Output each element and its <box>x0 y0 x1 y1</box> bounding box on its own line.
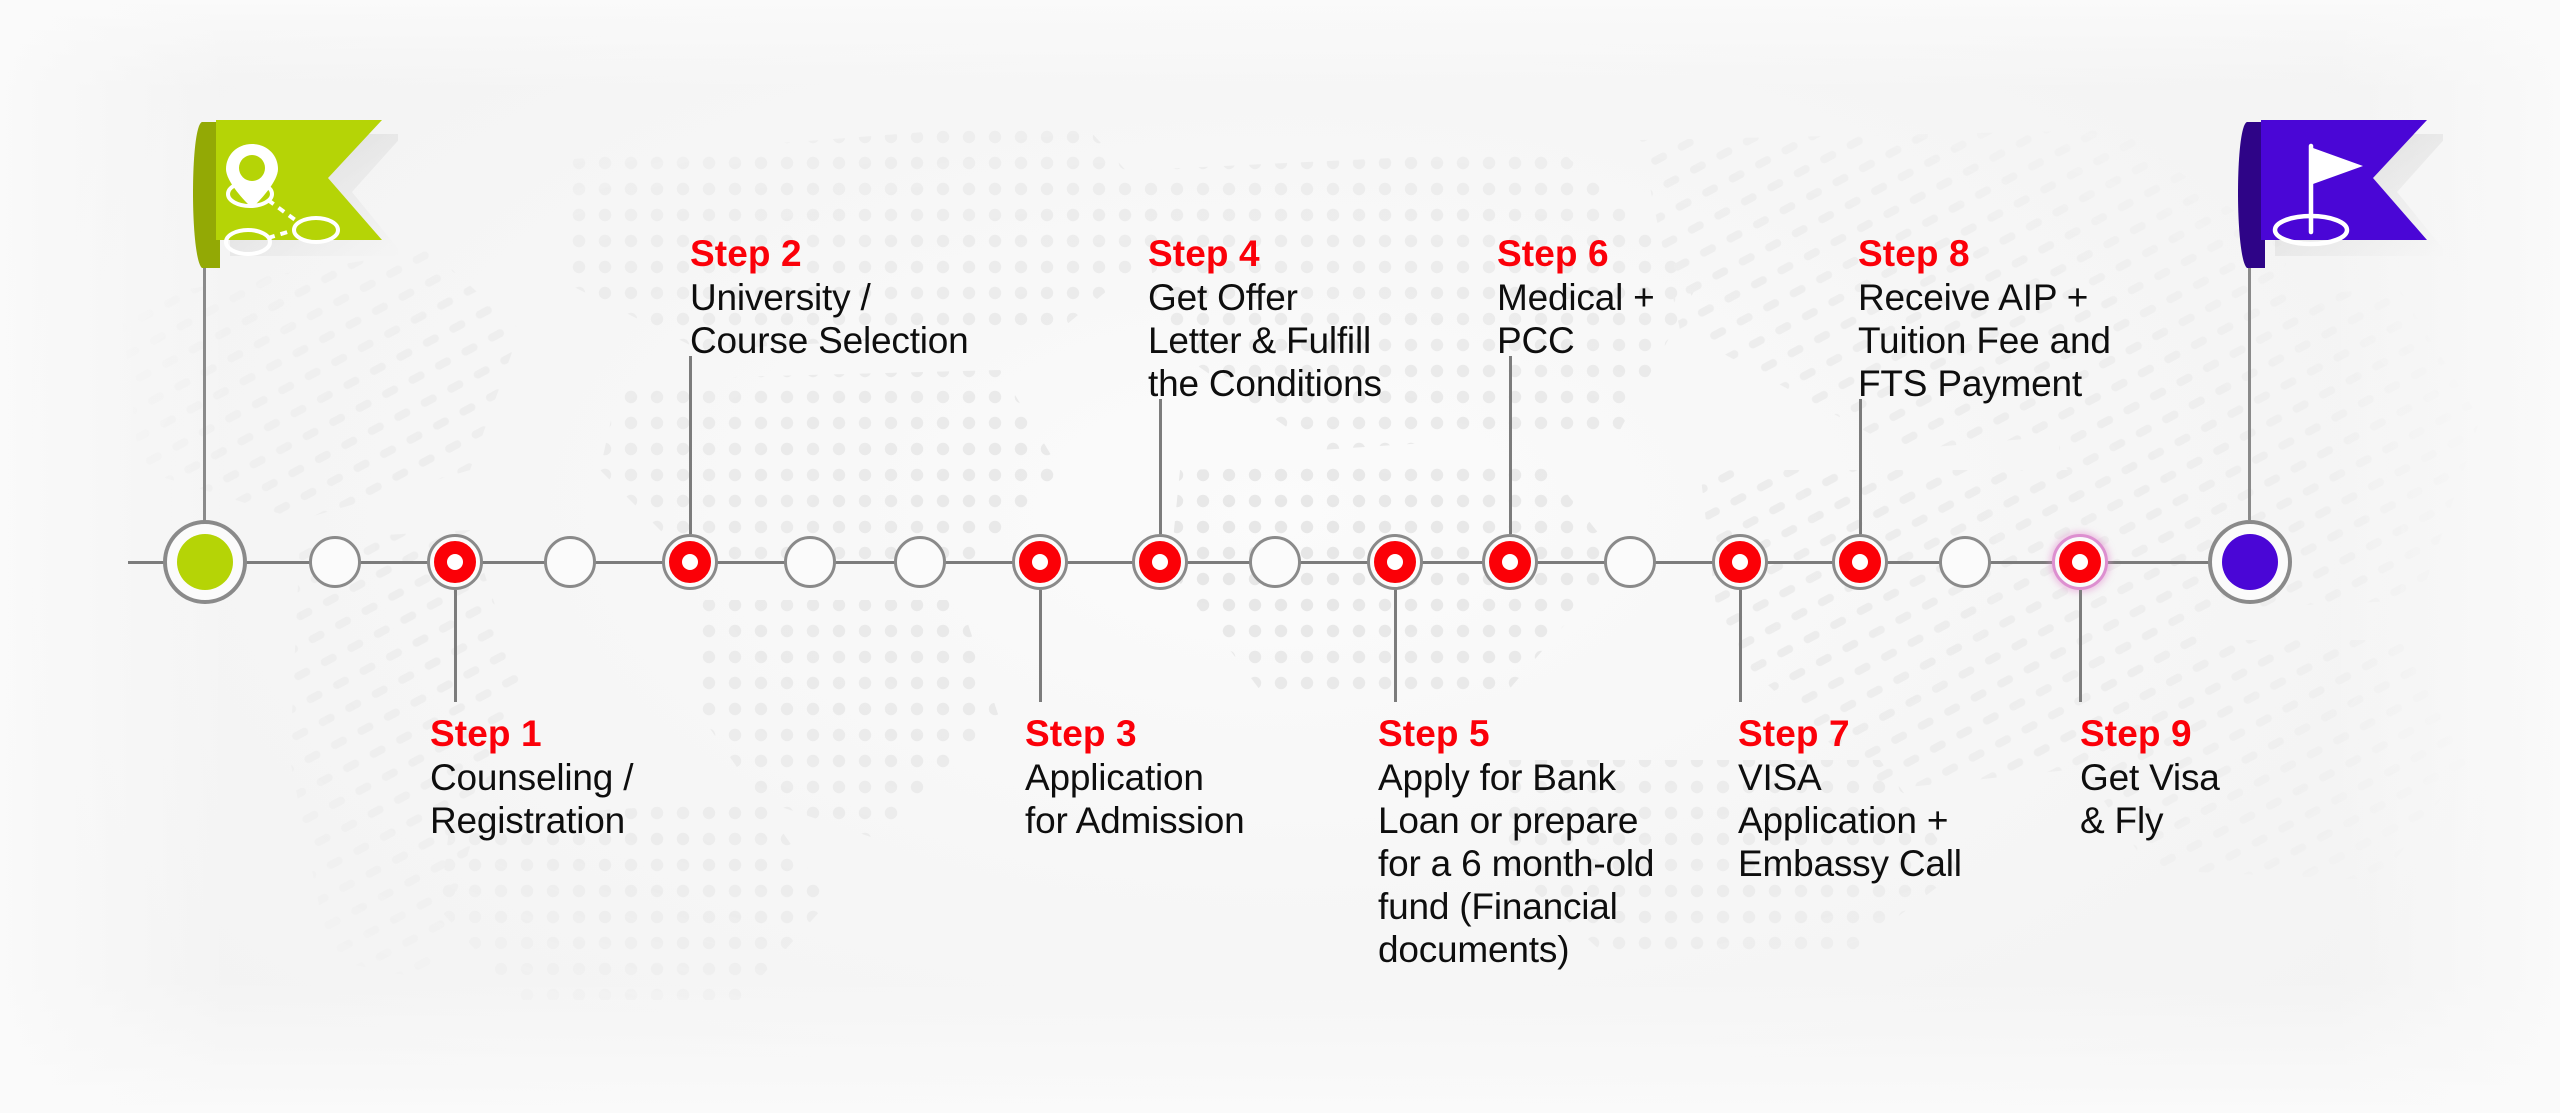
timeline-node-step-7[interactable] <box>1712 534 1768 590</box>
timeline-node-step-4[interactable] <box>1132 534 1188 590</box>
timeline-node-step-6[interactable] <box>1482 534 1538 590</box>
timeline-node-plain <box>894 536 946 588</box>
timeline-node-step-5[interactable] <box>1367 534 1423 590</box>
step-description: VISA Application + Embassy Call <box>1738 756 1962 885</box>
step-label-8: Step 8Receive AIP + Tuition Fee and FTS … <box>1858 232 2111 405</box>
step-description: University / Course Selection <box>690 276 969 362</box>
step-connector-stem <box>689 356 692 534</box>
start-flag <box>168 108 398 318</box>
step-description: Get Offer Letter & Fulfill the Condition… <box>1148 276 1382 405</box>
step-number: Step 8 <box>1858 232 2111 276</box>
step-connector-stem <box>1859 399 1862 534</box>
step-number: Step 3 <box>1025 712 1245 756</box>
step-node-donut <box>1019 541 1061 583</box>
step-number: Step 4 <box>1148 232 1382 276</box>
step-label-6: Step 6Medical + PCC <box>1497 232 1655 362</box>
timeline-node-plain <box>1939 536 1991 588</box>
step-node-donut <box>1839 541 1881 583</box>
timeline-node-end[interactable] <box>2208 520 2292 604</box>
step-connector-stem <box>1159 399 1162 534</box>
step-label-2: Step 2University / Course Selection <box>690 232 969 362</box>
step-number: Step 7 <box>1738 712 1962 756</box>
step-node-donut <box>1139 541 1181 583</box>
timeline-node-plain <box>544 536 596 588</box>
step-description: Receive AIP + Tuition Fee and FTS Paymen… <box>1858 276 2111 405</box>
step-label-9: Step 9Get Visa & Fly <box>2080 712 2220 842</box>
step-label-5: Step 5Apply for Bank Loan or prepare for… <box>1378 712 1654 971</box>
step-node-donut <box>434 541 476 583</box>
step-description: Medical + PCC <box>1497 276 1655 362</box>
infographic-canvas: Step 1Counseling / RegistrationStep 2Uni… <box>0 0 2560 1113</box>
step-connector-stem <box>1739 590 1742 702</box>
end-flag <box>2213 108 2443 318</box>
step-connector-stem <box>454 590 457 702</box>
timeline-node-step-3[interactable] <box>1012 534 1068 590</box>
timeline-node-step-1[interactable] <box>427 534 483 590</box>
step-node-donut <box>2059 541 2101 583</box>
step-connector-stem <box>1394 590 1397 702</box>
step-number: Step 6 <box>1497 232 1655 276</box>
timeline-node-step-9[interactable] <box>2052 534 2108 590</box>
step-connector-stem <box>1509 356 1512 534</box>
timeline-node-step-2[interactable] <box>662 534 718 590</box>
step-node-donut <box>1489 541 1531 583</box>
step-number: Step 2 <box>690 232 969 276</box>
timeline-node-step-8[interactable] <box>1832 534 1888 590</box>
timeline-node-plain <box>309 536 361 588</box>
step-connector-stem <box>2079 590 2082 702</box>
step-number: Step 1 <box>430 712 633 756</box>
timeline-node-plain <box>1249 536 1301 588</box>
step-node-donut <box>1719 541 1761 583</box>
step-node-donut <box>669 541 711 583</box>
step-description: Get Visa & Fly <box>2080 756 2220 842</box>
timeline-node-start[interactable] <box>163 520 247 604</box>
step-label-3: Step 3Application for Admission <box>1025 712 1245 842</box>
step-label-1: Step 1Counseling / Registration <box>430 712 633 842</box>
step-description: Counseling / Registration <box>430 756 633 842</box>
step-description: Apply for Bank Loan or prepare for a 6 m… <box>1378 756 1654 971</box>
step-label-4: Step 4Get Offer Letter & Fulfill the Con… <box>1148 232 1382 405</box>
step-number: Step 5 <box>1378 712 1654 756</box>
end-node-core <box>2222 534 2278 590</box>
step-description: Application for Admission <box>1025 756 1245 842</box>
start-node-core <box>177 534 233 590</box>
timeline-node-plain <box>1604 536 1656 588</box>
step-number: Step 9 <box>2080 712 2220 756</box>
step-label-7: Step 7VISA Application + Embassy Call <box>1738 712 1962 885</box>
step-node-donut <box>1374 541 1416 583</box>
timeline-node-plain <box>784 536 836 588</box>
step-connector-stem <box>1039 590 1042 702</box>
